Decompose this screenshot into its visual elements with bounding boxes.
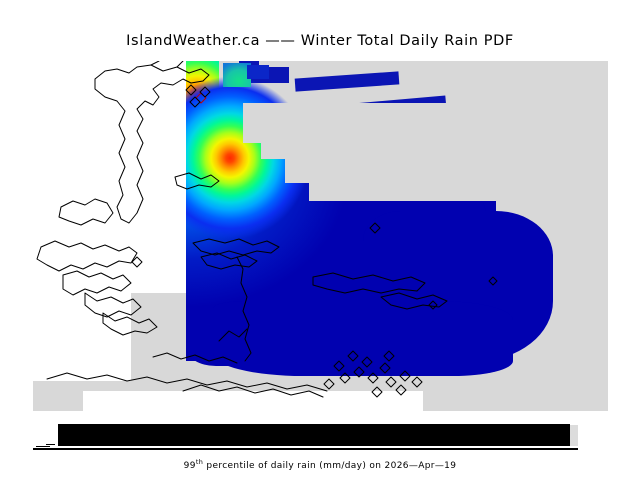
figure-canvas: IslandWeather.ca —— Winter Total Daily R… xyxy=(0,0,640,480)
colorbar-tick-marks xyxy=(36,444,76,452)
colorbar-gradient[interactable] xyxy=(58,424,570,446)
caption-suffix: percentile of daily rain (mm/day) on 202… xyxy=(203,461,456,471)
land-hotspot-coast-mask4 xyxy=(309,179,608,201)
outside-domain-south xyxy=(83,391,423,411)
colorbar-axis-line xyxy=(33,448,578,450)
outside-domain-w-restore xyxy=(33,61,131,381)
figure-caption: 99th percentile of daily rain (mm/day) o… xyxy=(0,458,640,471)
colorbar-over-swatch xyxy=(570,425,578,446)
water-south-arm xyxy=(213,301,513,376)
island-patch-blue xyxy=(247,65,269,79)
caption-prefix: 99 xyxy=(184,461,196,471)
page-title: IslandWeather.ca —— Winter Total Daily R… xyxy=(0,33,640,49)
land-hotspot-coast-mask2 xyxy=(261,133,608,159)
map-panel[interactable] xyxy=(33,61,608,411)
colorbar-container[interactable] xyxy=(33,424,608,446)
